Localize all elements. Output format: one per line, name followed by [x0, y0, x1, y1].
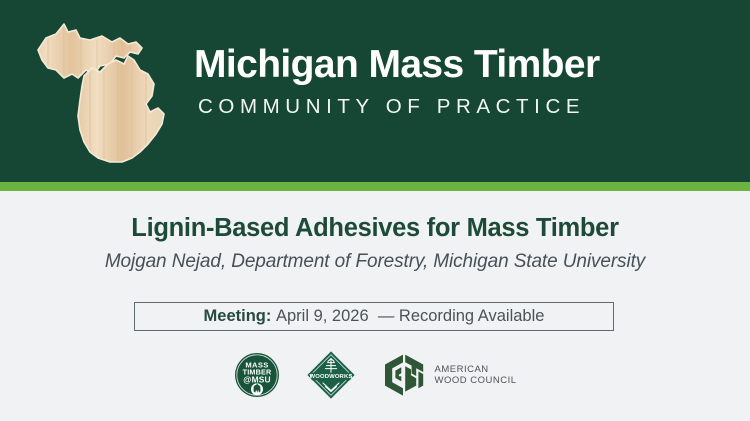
michigan-state-silhouette-icon — [24, 12, 182, 172]
woodworks-icon: WOODWORKS — [306, 350, 356, 400]
mass-timber-at-msu-icon: MASS TIMBER @MSU — [234, 352, 280, 398]
partner-logo-strip: MASS TIMBER @MSU — [0, 347, 750, 403]
meeting-info-box: Meeting: April 9, 2026 — Recording Avail… — [134, 302, 614, 331]
slide-canvas: Michigan Mass Timber COMMUNITY OF PRACTI… — [0, 0, 750, 421]
meeting-line: Meeting: April 9, 2026 — Recording Avail… — [204, 308, 545, 325]
svg-text:@MSU: @MSU — [243, 375, 271, 385]
logo-american-wood-council[interactable]: AMERICAN WOOD COUNCIL — [382, 352, 517, 398]
header-banner: Michigan Mass Timber COMMUNITY OF PRACTI… — [0, 0, 750, 182]
logo-woodworks[interactable]: WOODWORKS — [306, 350, 356, 400]
meeting-status: — Recording Available — [378, 307, 545, 325]
meeting-date: April 9, 2026 — [276, 307, 369, 325]
brand-subtitle: COMMUNITY OF PRACTICE — [198, 96, 734, 119]
session-body: Lignin-Based Adhesives for Mass Timber M… — [0, 191, 750, 421]
brand-title: Michigan Mass Timber — [194, 44, 734, 86]
wood-cube-icon — [382, 352, 426, 398]
session-presenter: Mojgan Nejad, Department of Forestry, Mi… — [0, 251, 750, 274]
session-title: Lignin-Based Adhesives for Mass Timber — [0, 214, 750, 243]
svg-text:WOODWORKS: WOODWORKS — [309, 374, 352, 380]
accent-divider-bar — [0, 182, 750, 191]
awc-line-1: AMERICAN — [435, 364, 517, 375]
logo-mass-timber-at-msu[interactable]: MASS TIMBER @MSU — [234, 352, 280, 398]
meeting-label: Meeting: — [204, 307, 272, 325]
awc-wordmark: AMERICAN WOOD COUNCIL — [435, 364, 517, 386]
awc-line-2: WOOD COUNCIL — [435, 375, 517, 386]
brand-block: Michigan Mass Timber COMMUNITY OF PRACTI… — [194, 44, 734, 119]
